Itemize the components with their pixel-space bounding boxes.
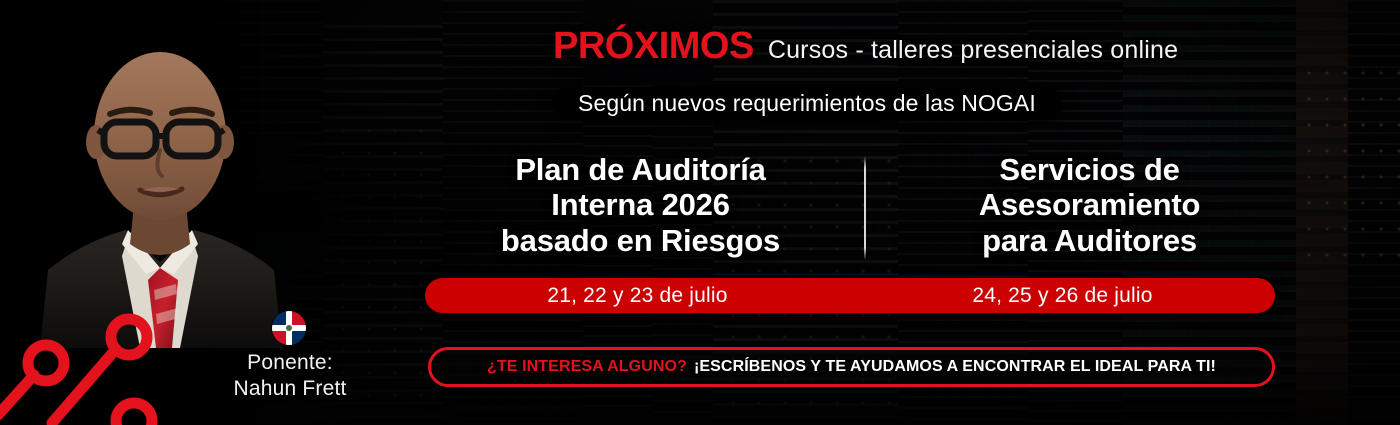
course-title-line: Plan de Auditoría [425, 152, 856, 187]
course-title-line: Servicios de [874, 152, 1305, 187]
dates-pill: 21, 22 y 23 de julio 24, 25 y 26 de juli… [425, 278, 1275, 313]
course-title-line: basado en Riesgos [425, 223, 856, 258]
speaker-block: Ponente: Nahun Frett [0, 0, 400, 425]
cta-question: ¿TE INTERESA ALGUNO? [487, 358, 687, 376]
speaker-caption: Ponente: Nahun Frett [180, 350, 400, 401]
course-title-left: Plan de Auditoría Interna 2026 basado en… [425, 152, 856, 258]
cta-message: ¡ESCRÍBENOS Y TE AYUDAMOS A ENCONTRAR EL… [694, 358, 1216, 376]
course-title-line: Interna 2026 [425, 187, 856, 222]
headline-row: PRÓXIMOS Cursos - talleres presenciales … [400, 27, 1300, 65]
course-title-line: para Auditores [874, 223, 1305, 258]
course-divider [864, 156, 866, 260]
cta-button[interactable]: ¿TE INTERESA ALGUNO? ¡ESCRÍBENOS Y TE AY… [428, 347, 1275, 387]
content-block: PRÓXIMOS Cursos - talleres presenciales … [400, 0, 1400, 425]
circuit-decoration [0, 311, 209, 425]
promo-banner: Ponente: Nahun Frett PRÓXIMOS Cursos - t… [0, 0, 1400, 425]
requirement-pill: Según nuevos requerimientos de las NOGAI [552, 87, 1062, 120]
speaker-portrait [30, 18, 290, 348]
course-dates-right: 24, 25 y 26 de julio [850, 284, 1275, 308]
dominican-republic-flag-icon [272, 311, 306, 345]
course-title-line: Asesoramiento [874, 187, 1305, 222]
course-title-right: Servicios de Asesoramiento para Auditore… [874, 152, 1305, 258]
courses-row: Plan de Auditoría Interna 2026 basado en… [425, 152, 1305, 264]
speaker-name: Nahun Frett [180, 376, 400, 402]
headline-subtitle: Cursos - talleres presenciales online [768, 38, 1178, 63]
speaker-role: Ponente: [180, 350, 400, 376]
course-dates-left: 21, 22 y 23 de julio [425, 284, 850, 308]
headline-accent: PRÓXIMOS [553, 27, 754, 65]
